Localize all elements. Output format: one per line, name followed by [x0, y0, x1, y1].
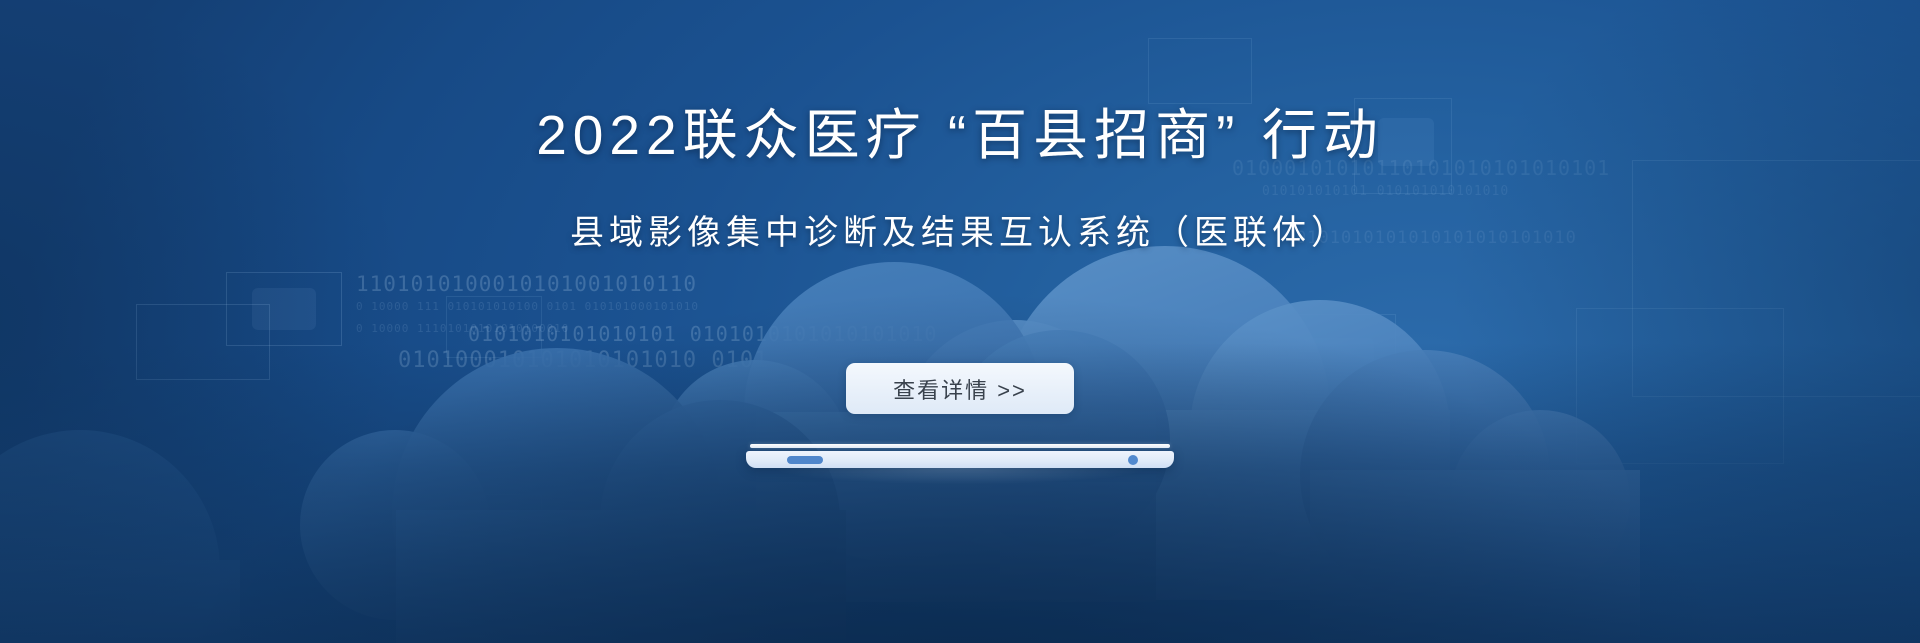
banner-title: 2022联众医疗 “百县招商” 行动 [0, 108, 1920, 163]
banner-subtitle: 县域影像集中诊断及结果互认系统（医联体） [0, 216, 1920, 250]
banner-content: 2022联众医疗 “百县招商” 行动 县域影像集中诊断及结果互认系统（医联体） … [0, 0, 1920, 643]
laptop-indicator-bar-icon [787, 456, 823, 464]
laptop-screen-edge [750, 444, 1170, 448]
laptop-power-dot-icon [1128, 455, 1138, 465]
view-details-button[interactable]: 查看详情 >> [846, 363, 1074, 414]
promo-banner: 1101010100010101001010110 0 10000 111 01… [0, 0, 1920, 643]
cta-container: 查看详情 >> [0, 363, 1920, 414]
laptop-reflection [776, 468, 1144, 484]
laptop-device [746, 444, 1174, 474]
